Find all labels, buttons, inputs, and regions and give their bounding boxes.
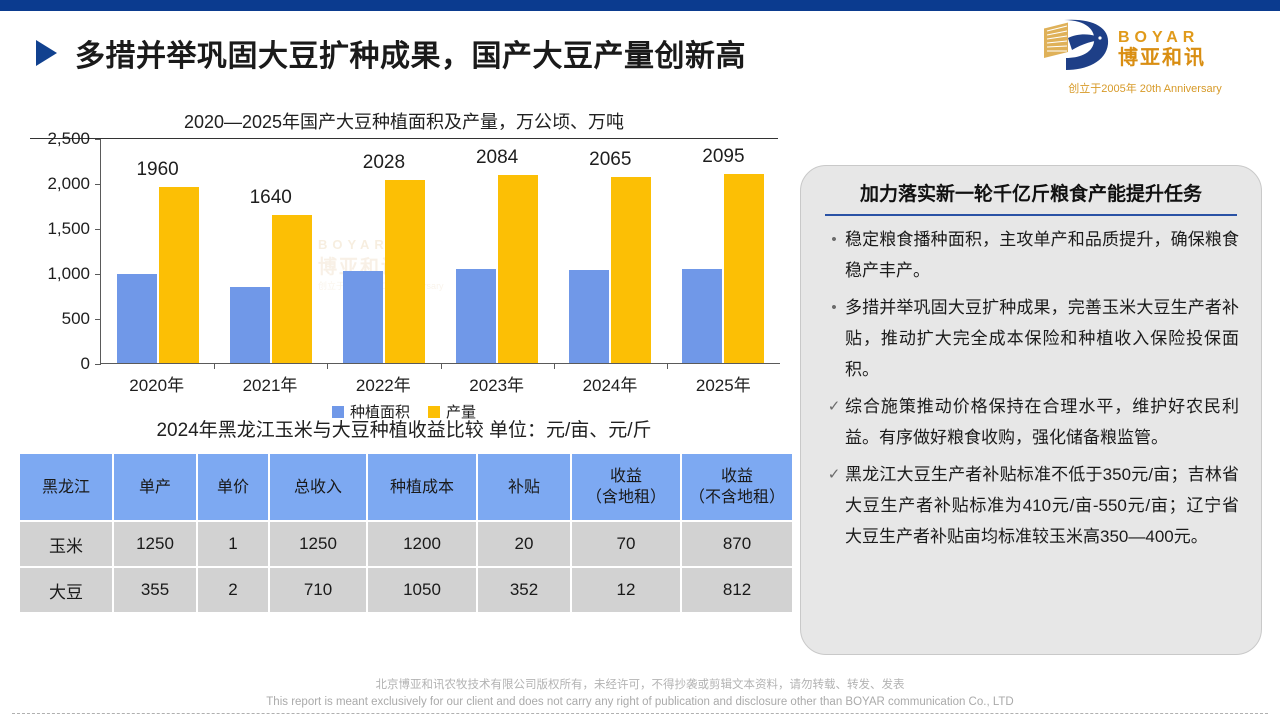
play-triangle-icon [36,40,57,66]
chart-bar [159,187,199,363]
table-header-cell: 种植成本 [368,454,476,520]
panel-bullet-item: ✓综合施策推动价格保持在合理水平，维护好农民利益。有序做好粮食收购，强化储备粮监… [823,391,1239,453]
y-tick-label: 0 [81,354,90,374]
table-header-cell: 单产 [114,454,196,520]
legend-label: 产量 [446,401,476,422]
chart-bar [272,215,312,363]
y-axis-tick [95,139,101,140]
check-bullet-icon: ✓ [823,459,845,490]
y-tick-label: 2,500 [47,129,90,149]
panel-bullet-text: 多措并举巩固大豆扩种成果，完善玉米大豆生产者补贴，推动扩大完全成本保险和种植收入… [845,292,1239,385]
table-cell: 1050 [368,568,476,612]
check-bullet-icon: ✓ [823,391,845,422]
chart-bar-group: 2028 [327,139,440,363]
y-tick-label: 500 [62,309,90,329]
chart-plot-area: 196016402028208420652095 [100,139,780,364]
table-header-cell: 总收入 [270,454,366,520]
chart-bar [682,269,722,363]
panel-bullet-item: •稳定粮食播种面积，主攻单产和品质提升，确保粮食稳产丰产。 [823,224,1239,286]
panel-bullet-text: 稳定粮食播种面积，主攻单产和品质提升，确保粮食稳产丰产。 [845,224,1239,286]
chart-bar [230,287,270,363]
boyar-bird-logo-icon [1038,18,1116,80]
top-accent-bar [0,0,1280,11]
x-axis-tick [554,363,555,369]
left-content-column: 2020—2025年国产大豆种植面积及产量，万公顷、万吨 BOYAR 博亚和讯 … [18,108,790,660]
chart-bar [343,271,383,363]
table-cell: 70 [572,522,680,566]
y-axis-tick [95,364,101,365]
x-tick-label: 2024年 [553,371,666,396]
soybean-area-output-chart: BOYAR 博亚和讯 创立于2005年 20th Anniversary 2,5… [18,139,790,401]
panel-heading: 加力落实新一轮千亿斤粮食产能提升任务 [823,182,1239,208]
chart-bar [569,270,609,363]
slide-footer: 北京博亚和讯农牧技术有限公司版权所有，未经许可，不得抄袭或剪辑文本资料，请勿转载… [0,677,1280,714]
footer-copyright-cn: 北京博亚和讯农牧技术有限公司版权所有，未经许可，不得抄袭或剪辑文本资料，请勿转载… [0,677,1280,694]
y-axis-tick [95,184,101,185]
legend-swatch-icon [332,406,344,418]
y-axis-tick [95,274,101,275]
x-axis-tick [667,363,668,369]
table-cell: 1250 [114,522,196,566]
legend-item[interactable]: 种植面积 [332,401,410,422]
x-tick-label: 2020年 [100,371,213,396]
y-tick-label: 1,000 [47,264,90,284]
table-header-cell: 收益（不含地租） [682,454,792,520]
chart-title: 2020—2025年国产大豆种植面积及产量，万公顷、万吨 [18,108,790,138]
x-tick-label: 2025年 [667,371,780,396]
logo-chinese-text: 博亚和讯 [1118,47,1206,70]
table-cell: 2 [198,568,268,612]
x-tick-label: 2022年 [327,371,440,396]
panel-bullet-list: •稳定粮食播种面积，主攻单产和品质提升，确保粮食稳产丰产。•多措并举巩固大豆扩种… [823,224,1239,552]
x-tick-label: 2021年 [213,371,326,396]
chart-value-label: 2095 [667,146,780,168]
policy-highlights-panel: 加力落实新一轮千亿斤粮食产能提升任务 •稳定粮食播种面积，主攻单产和品质提升，确… [800,165,1262,655]
footer-divider [12,713,1268,714]
x-tick-label: 2023年 [440,371,553,396]
x-axis-tick [214,363,215,369]
slide-root: 多措并举巩固大豆扩种成果，国产大豆产量创新高 BOYAR 博亚和讯 创立于200… [0,0,1280,720]
table-header-cell: 补贴 [478,454,570,520]
page-title: 多措并举巩固大豆扩种成果，国产大豆产量创新高 [75,31,746,75]
slide-header: 多措并举巩固大豆扩种成果，国产大豆产量创新高 [0,22,1020,84]
chart-bar [385,180,425,363]
table-cell: 870 [682,522,792,566]
chart-bar-group: 2095 [667,139,780,363]
table-cell: 玉米 [20,522,112,566]
table-cell: 12 [572,568,680,612]
chart-value-label: 2028 [327,152,440,174]
x-axis-tick [327,363,328,369]
chart-bar-group: 2084 [441,139,554,363]
y-tick-label: 1,500 [47,219,90,239]
x-axis-tick [441,363,442,369]
chart-bar [498,175,538,363]
chart-bar [611,177,651,363]
table-cell: 1 [198,522,268,566]
panel-bullet-text: 黑龙江大豆生产者补贴标准不低于350元/亩；吉林省大豆生产者补贴标准为410元/… [845,459,1239,552]
table-body: 玉米12501125012002070870大豆3552710105035212… [20,522,792,612]
chart-bar-group: 2065 [554,139,667,363]
table-cell: 20 [478,522,570,566]
table-cell: 352 [478,568,570,612]
table-header-cell: 单价 [198,454,268,520]
legend-swatch-icon [428,406,440,418]
footer-copyright-en: This report is meant exclusively for our… [0,694,1280,711]
chart-value-label: 2065 [554,149,667,171]
chart-bar-group: 1640 [214,139,327,363]
logo-english-text: BOYAR [1118,29,1206,47]
table-cell: 812 [682,568,792,612]
panel-heading-rule [825,214,1237,216]
table-cell: 大豆 [20,568,112,612]
chart-legend: 种植面积产量 [18,401,790,422]
y-tick-label: 2,000 [47,174,90,194]
panel-bullet-item: •多措并举巩固大豆扩种成果，完善玉米大豆生产者补贴，推动扩大完全成本保险和种植收… [823,292,1239,385]
chart-value-label: 1960 [101,159,214,181]
y-axis-tick [95,319,101,320]
table-cell: 1250 [270,522,366,566]
chart-value-label: 2084 [441,147,554,169]
table-row: 玉米12501125012002070870 [20,522,792,566]
table-row: 大豆3552710105035212812 [20,568,792,612]
legend-item[interactable]: 产量 [428,401,476,422]
panel-bullet-item: ✓黑龙江大豆生产者补贴标准不低于350元/亩；吉林省大豆生产者补贴标准为410元… [823,459,1239,552]
chart-bar [117,274,157,363]
dot-bullet-icon: • [823,224,845,255]
chart-bar [724,174,764,363]
profit-comparison-table: 黑龙江单产单价总收入种植成本补贴收益（含地租）收益（不含地租） 玉米125011… [18,452,794,614]
table-cell: 710 [270,568,366,612]
chart-x-axis-labels: 2020年2021年2022年2023年2024年2025年 [100,371,780,396]
table-header-cell: 黑龙江 [20,454,112,520]
chart-bar-group: 1960 [101,139,214,363]
table-header-row: 黑龙江单产单价总收入种植成本补贴收益（含地租）收益（不含地租） [20,454,792,520]
table-header-cell: 收益（含地租） [572,454,680,520]
chart-bar [456,269,496,363]
y-axis-tick [95,229,101,230]
panel-bullet-text: 综合施策推动价格保持在合理水平，维护好农民利益。有序做好粮食收购，强化储备粮监管… [845,391,1239,453]
chart-value-label: 1640 [214,187,327,209]
dot-bullet-icon: • [823,292,845,323]
chart-y-axis-labels: 2,5002,0001,5001,0005000 [18,139,96,371]
table-cell: 1200 [368,522,476,566]
logo-tagline: 创立于2005年 20th Anniversary [1038,83,1252,96]
legend-label: 种植面积 [350,401,410,422]
table-cell: 355 [114,568,196,612]
brand-logo: BOYAR 博亚和讯 创立于2005年 20th Anniversary [1038,16,1252,108]
